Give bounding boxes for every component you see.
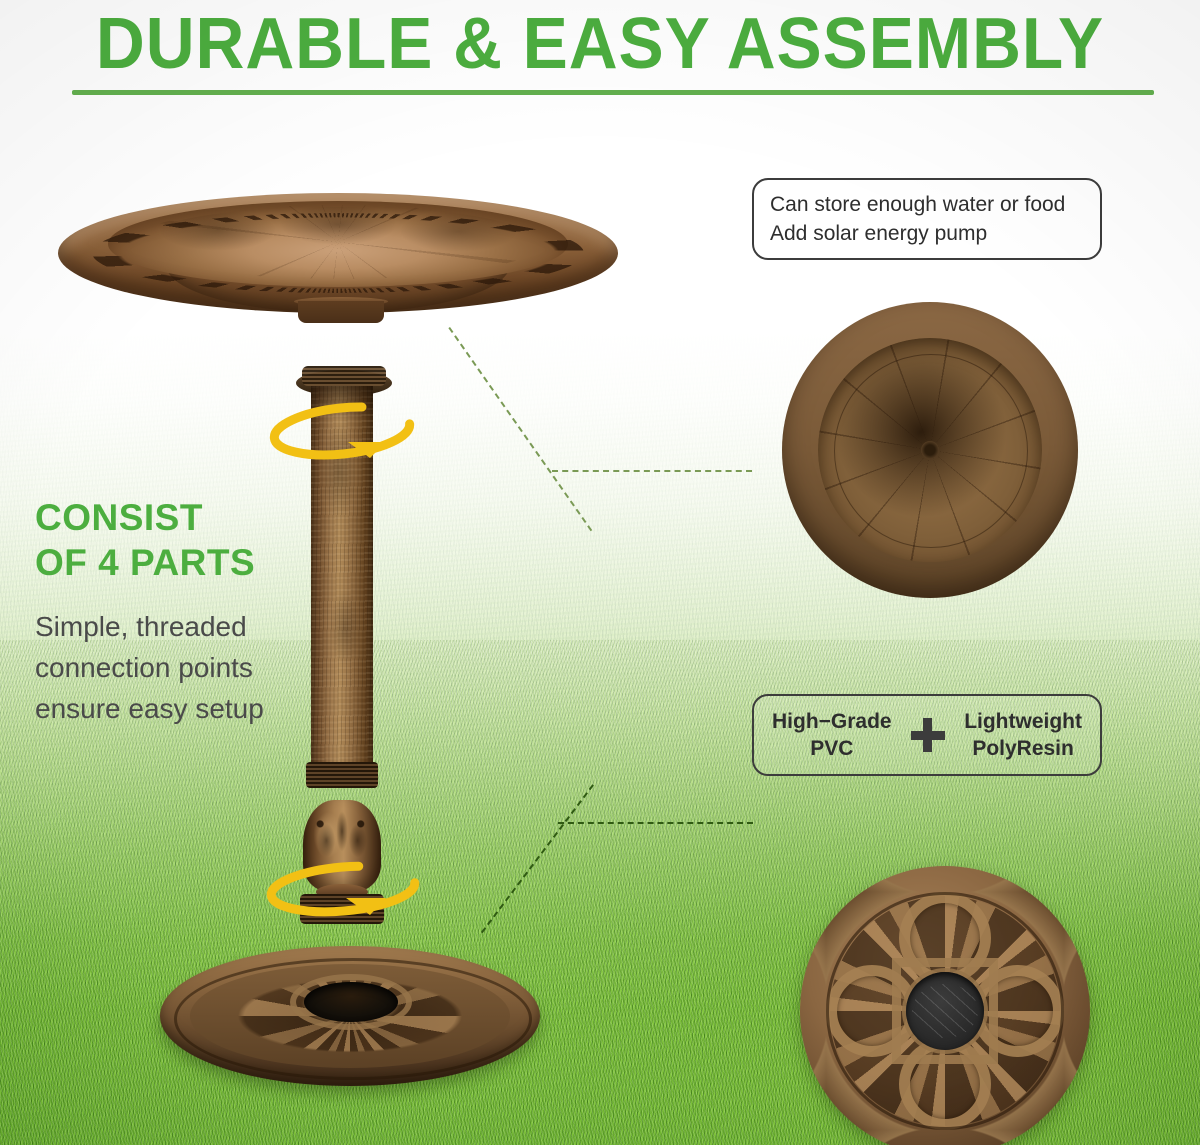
bowl-perforation-ring [92, 213, 584, 293]
detail-base-rim [800, 866, 1090, 1145]
bowl-top-view-detail [782, 302, 1078, 598]
base-center-socket [304, 982, 398, 1022]
material-right-line-2: PolyResin [964, 735, 1082, 762]
consist-heading: CONSIST OF 4 PARTS [35, 495, 355, 585]
material-left-line-2: PVC [772, 735, 892, 762]
detail-bowl-perforations [788, 308, 1072, 592]
callout-water-line-2: Add solar energy pump [770, 219, 1084, 248]
material-left: High−Grade PVC [772, 708, 892, 762]
page-title: DURABLE & EASY ASSEMBLY [36, 4, 1164, 84]
consist-body-text: Simple, threaded connection points ensur… [35, 606, 315, 729]
consist-heading-line-2: OF 4 PARTS [35, 540, 355, 585]
base-top-view-detail [800, 866, 1090, 1145]
rotation-arrow-upper [262, 398, 422, 464]
material-right: Lightweight PolyResin [964, 708, 1082, 762]
plus-icon [911, 718, 945, 752]
column-top-thread [302, 366, 386, 386]
bowl-foot-socket [298, 301, 384, 323]
bird-bath-bowl [58, 193, 618, 333]
callout-water-capacity[interactable]: Can store enough water or food Add solar… [752, 178, 1102, 260]
consist-heading-line-1: CONSIST [35, 495, 355, 540]
material-left-line-1: High−Grade [772, 708, 892, 735]
title-underline-rule [72, 90, 1154, 95]
infographic-canvas: DURABLE & EASY ASSEMBLY [0, 0, 1200, 1145]
material-right-line-1: Lightweight [964, 708, 1082, 735]
rotation-arrow-lower [258, 856, 428, 922]
callout-materials[interactable]: High−Grade PVC Lightweight PolyResin [752, 694, 1102, 776]
ornate-base [160, 946, 540, 1098]
column-bottom-thread [306, 762, 378, 788]
callout-water-line-1: Can store enough water or food [770, 190, 1084, 219]
